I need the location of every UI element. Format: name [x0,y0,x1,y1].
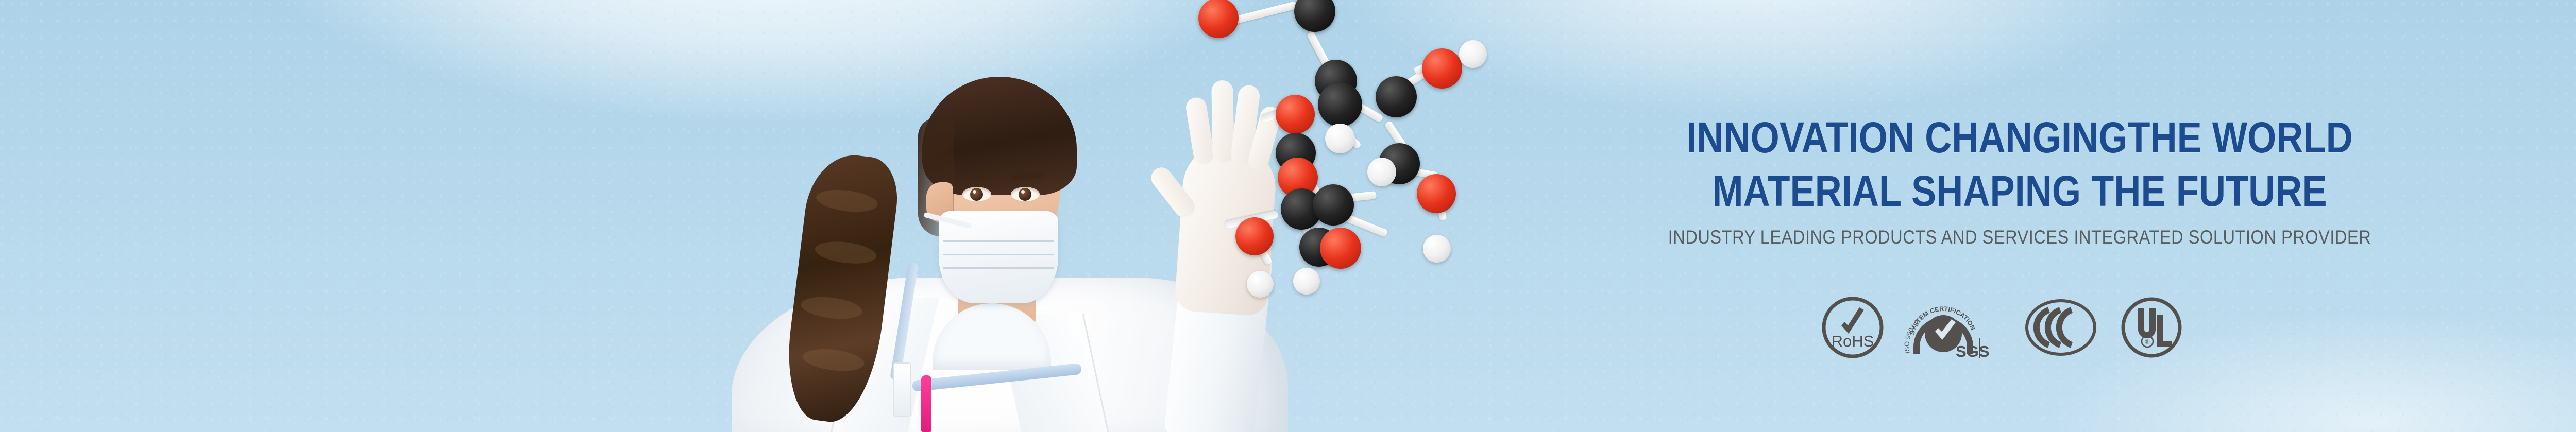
rohs-label: RoHS [1832,332,1874,350]
banner-subtitle: INDUSTRY LEADING PRODUCTS AND SERVICES I… [1630,226,2410,249]
ul-badge: ® UL [2117,293,2185,361]
atom-hydrogen [1247,271,1274,298]
atom-oxygen [1320,228,1361,269]
atom-oxygen [1422,48,1462,89]
molecule-bond [1229,1,1297,25]
atom-carbon [1318,82,1362,127]
atom-hydrogen [1325,124,1355,153]
banner-text-block: INNOVATION CHANGINGTHE WORLD MATERIAL SH… [1577,111,2463,249]
atom-carbon [1294,0,1335,32]
sgs-badge: SYSTEM CERTIFICATION ISO 9001:2000 SGS [1902,293,1990,361]
atom-hydrogen [1423,235,1451,263]
atom-carbon [1313,184,1354,226]
pink-pen [921,375,931,432]
ul-registered-mark: ® [2145,338,2150,345]
surgical-mask [939,211,1058,303]
promo-banner: INNOVATION CHANGINGTHE WORLD MATERIAL SH… [0,0,2576,432]
rohs-badge: RoHS [1819,293,1887,361]
atom-oxygen [1235,217,1274,255]
headline-line-2: MATERIAL SHAPING THE FUTURE [1638,164,2400,218]
eye-right [1011,187,1040,201]
atom-hydrogen [1367,158,1396,186]
molecular-model [1175,0,1566,283]
eye-left [962,187,991,201]
atom-hydrogen [1293,268,1320,295]
atom-oxygen [1198,0,1239,38]
atom-hydrogen [1459,40,1487,68]
sgs-label: SGS [1956,342,1989,360]
head [912,82,1082,303]
certification-badge-row: RoHS SYSTEM CERTIFICATION ISO 9001:2000 [1814,293,2226,366]
atom-carbon [1376,76,1417,117]
badge-clip [893,362,911,417]
atom-oxygen [1276,95,1315,134]
headline-line-1: INNOVATION CHANGINGTHE WORLD [1638,111,2400,164]
atom-oxygen [1417,174,1456,213]
ccc-badge: CCC [2022,293,2099,361]
